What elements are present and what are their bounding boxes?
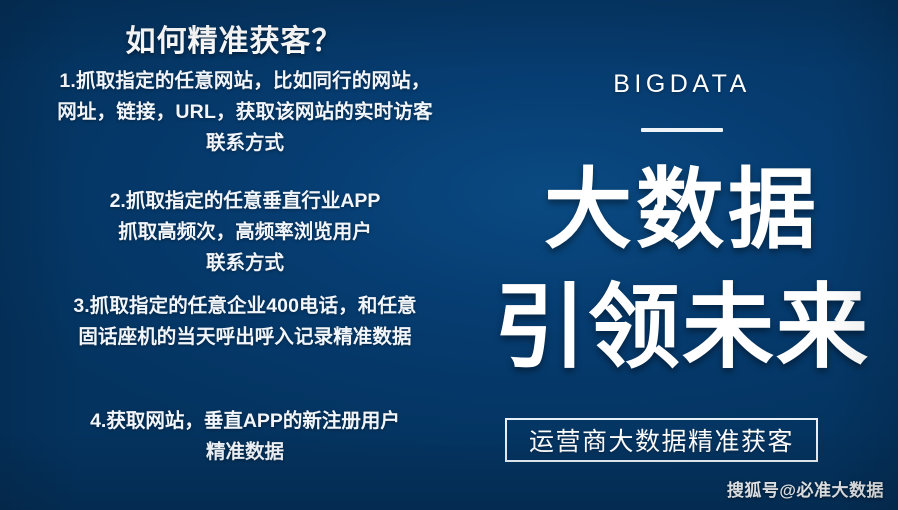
watermark-label: 搜狐号@必准大数据: [727, 476, 884, 501]
divider-rule: [641, 128, 723, 132]
bullet-3-line-1: 3.抓取指定的任意企业400电话，和任意: [0, 291, 490, 322]
tagline-text: 运营商大数据精准获客: [529, 422, 794, 458]
list-item: 3.抓取指定的任意企业400电话，和任意 固话座机的当天呼出呼入记录精准数据: [0, 291, 490, 353]
tagline-box: 运营商大数据精准获客: [505, 418, 818, 462]
bullet-2-line-1: 2.抓取指定的任意垂直行业APP: [0, 186, 490, 217]
poster-canvas: 如何精准获客？ 1.抓取指定的任意网站，比如同行的网站， 网址，链接，URL，获…: [0, 0, 898, 510]
list-item: 2.抓取指定的任意垂直行业APP 抓取高频次，高频率浏览用户 联系方式: [0, 186, 490, 279]
right-branding-column: BIGDATA 大数据 引领未来 运营商大数据精准获客: [466, 0, 898, 510]
bullet-3-line-2: 固话座机的当天呼出呼入记录精准数据: [0, 322, 490, 353]
bullet-2-line-2: 抓取高频次，高频率浏览用户: [0, 217, 490, 248]
list-item: 4.获取网站，垂直APP的新注册用户 精准数据: [0, 406, 490, 468]
brand-english-label: BIGDATA: [466, 70, 898, 99]
bullet-1-line-3: 联系方式: [0, 128, 490, 159]
list-item: 1.抓取指定的任意网站，比如同行的网站， 网址，链接，URL，获取该网站的实时访…: [0, 66, 490, 159]
page-title: 如何精准获客？: [0, 16, 468, 60]
brand-headline-secondary: 引领未来: [466, 282, 898, 374]
bullet-4-line-1: 4.获取网站，垂直APP的新注册用户: [0, 406, 490, 437]
left-content-column: 如何精准获客？ 1.抓取指定的任意网站，比如同行的网站， 网址，链接，URL，获…: [0, 0, 492, 510]
bullet-4-line-2: 精准数据: [0, 437, 490, 468]
bullet-1-line-2: 网址，链接，URL，获取该网站的实时访客: [0, 97, 490, 128]
brand-headline-primary: 大数据: [466, 166, 898, 254]
bullet-1-line-1: 1.抓取指定的任意网站，比如同行的网站，: [0, 66, 490, 97]
bullet-2-line-3: 联系方式: [0, 248, 490, 279]
